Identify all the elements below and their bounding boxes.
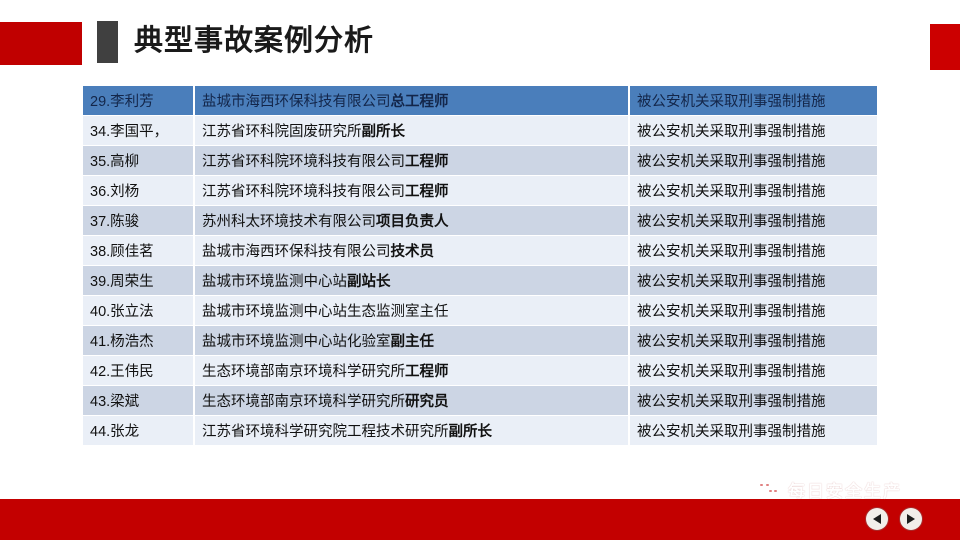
role-text: 副所长 bbox=[362, 124, 406, 140]
org-text: 生态环境部南京环境科学研究所 bbox=[202, 364, 405, 380]
cell-org-role: 江苏省环境科学研究院工程技术研究所副所长 bbox=[194, 416, 629, 446]
cell-action: 被公安机关采取刑事强制措施 bbox=[629, 236, 877, 266]
cell-action: 被公安机关采取刑事强制措施 bbox=[629, 356, 877, 386]
decor-left-red-block bbox=[0, 22, 82, 65]
arrow-right-icon bbox=[907, 514, 915, 524]
role-text: 副主任 bbox=[391, 334, 435, 350]
role-text: 总工程师 bbox=[391, 94, 449, 110]
table-row[interactable]: 44.张龙江苏省环境科学研究院工程技术研究所副所长被公安机关采取刑事强制措施 bbox=[83, 416, 877, 446]
org-text: 盐城市海西环保科技有限公司 bbox=[202, 94, 391, 110]
org-text: 盐城市环境监测中心站化验室 bbox=[202, 334, 391, 350]
cell-person-name: 38.顾佳茗 bbox=[83, 236, 194, 266]
org-text: 盐城市海西环保科技有限公司 bbox=[202, 244, 391, 260]
cell-person-name: 35.高柳 bbox=[83, 146, 194, 176]
cell-org-role: 盐城市环境监测中心站化验室副主任 bbox=[194, 326, 629, 356]
org-text: 江苏省环科院环境科技有限公司 bbox=[202, 154, 405, 170]
decor-topright-red-block bbox=[930, 24, 960, 70]
role-text: 副站长 bbox=[347, 274, 391, 290]
role-text: 项目负责人 bbox=[376, 214, 449, 230]
org-text: 江苏省环境科学研究院工程技术研究所 bbox=[202, 424, 449, 440]
cell-person-name: 41.杨浩杰 bbox=[83, 326, 194, 356]
decor-bottom-red-bar bbox=[0, 499, 960, 540]
arrow-left-icon bbox=[873, 514, 881, 524]
cell-person-name: 42.王伟民 bbox=[83, 356, 194, 386]
role-text: 工程师 bbox=[405, 154, 449, 170]
table-row[interactable]: 34.李国平，江苏省环科院固废研究所副所长被公安机关采取刑事强制措施 bbox=[83, 116, 877, 146]
role-text: 工程师 bbox=[405, 364, 449, 380]
cell-person-name: 39.周荣生 bbox=[83, 266, 194, 296]
cell-action: 被公安机关采取刑事强制措施 bbox=[629, 296, 877, 326]
cell-org-role: 江苏省环科院环境科技有限公司工程师 bbox=[194, 146, 629, 176]
table-row[interactable]: 29.李利芳盐城市海西环保科技有限公司总工程师被公安机关采取刑事强制措施 bbox=[83, 86, 877, 116]
org-text: 江苏省环科院固废研究所 bbox=[202, 124, 362, 140]
cell-person-name: 43.梁斌 bbox=[83, 386, 194, 416]
cell-action: 被公安机关采取刑事强制措施 bbox=[629, 266, 877, 296]
table-row[interactable]: 36.刘杨江苏省环科院环境科技有限公司工程师被公安机关采取刑事强制措施 bbox=[83, 176, 877, 206]
table-row[interactable]: 40.张立法盐城市环境监测中心站生态监测室主任被公安机关采取刑事强制措施 bbox=[83, 296, 877, 326]
cell-action: 被公安机关采取刑事强制措施 bbox=[629, 206, 877, 236]
cell-action: 被公安机关采取刑事强制措施 bbox=[629, 386, 877, 416]
slide-nav[interactable] bbox=[866, 508, 922, 530]
org-text: 苏州科太环境技术有限公司 bbox=[202, 214, 376, 230]
case-table-body: 29.李利芳盐城市海西环保科技有限公司总工程师被公安机关采取刑事强制措施34.李… bbox=[83, 86, 877, 446]
table-row[interactable]: 37.陈骏苏州科太环境技术有限公司项目负责人被公安机关采取刑事强制措施 bbox=[83, 206, 877, 236]
role-text: 副所长 bbox=[449, 424, 493, 440]
org-text: 盐城市环境监测中心站 bbox=[202, 274, 347, 290]
cell-action: 被公安机关采取刑事强制措施 bbox=[629, 116, 877, 146]
page-title: 典型事故案例分析 bbox=[134, 20, 374, 62]
table-row[interactable]: 43.梁斌生态环境部南京环境科学研究所研究员被公安机关采取刑事强制措施 bbox=[83, 386, 877, 416]
cell-person-name: 40.张立法 bbox=[83, 296, 194, 326]
next-slide-button[interactable] bbox=[900, 508, 922, 530]
cell-org-role: 盐城市海西环保科技有限公司总工程师 bbox=[194, 86, 629, 116]
cell-org-role: 生态环境部南京环境科学研究所研究员 bbox=[194, 386, 629, 416]
cell-org-role: 生态环境部南京环境科学研究所工程师 bbox=[194, 356, 629, 386]
table-row[interactable]: 35.高柳江苏省环科院环境科技有限公司工程师被公安机关采取刑事强制措施 bbox=[83, 146, 877, 176]
cell-action: 被公安机关采取刑事强制措施 bbox=[629, 416, 877, 446]
table-row[interactable]: 42.王伟民生态环境部南京环境科学研究所工程师被公安机关采取刑事强制措施 bbox=[83, 356, 877, 386]
cell-action: 被公安机关采取刑事强制措施 bbox=[629, 326, 877, 356]
role-text: 研究员 bbox=[405, 394, 449, 410]
table-row[interactable]: 39.周荣生盐城市环境监测中心站副站长被公安机关采取刑事强制措施 bbox=[83, 266, 877, 296]
case-table-container: 29.李利芳盐城市海西环保科技有限公司总工程师被公安机关采取刑事强制措施34.李… bbox=[83, 86, 877, 446]
prev-slide-button[interactable] bbox=[866, 508, 888, 530]
role-text: 工程师 bbox=[405, 184, 449, 200]
cell-person-name: 36.刘杨 bbox=[83, 176, 194, 206]
role-text: 技术员 bbox=[391, 244, 435, 260]
cell-person-name: 37.陈骏 bbox=[83, 206, 194, 236]
org-text: 盐城市环境监测中心站生态监测室主任 bbox=[202, 304, 449, 320]
cell-action: 被公安机关采取刑事强制措施 bbox=[629, 146, 877, 176]
cell-org-role: 江苏省环科院固废研究所副所长 bbox=[194, 116, 629, 146]
cell-org-role: 盐城市环境监测中心站副站长 bbox=[194, 266, 629, 296]
cell-person-name: 29.李利芳 bbox=[83, 86, 194, 116]
cell-org-role: 盐城市环境监测中心站生态监测室主任 bbox=[194, 296, 629, 326]
slide-canvas: 典型事故案例分析 29.李利芳盐城市海西环保科技有限公司总工程师被公安机关采取刑… bbox=[0, 0, 960, 540]
table-row[interactable]: 38.顾佳茗盐城市海西环保科技有限公司技术员被公安机关采取刑事强制措施 bbox=[83, 236, 877, 266]
table-row[interactable]: 41.杨浩杰盐城市环境监测中心站化验室副主任被公安机关采取刑事强制措施 bbox=[83, 326, 877, 356]
case-table: 29.李利芳盐城市海西环保科技有限公司总工程师被公安机关采取刑事强制措施34.李… bbox=[83, 86, 877, 446]
cell-person-name: 44.张龙 bbox=[83, 416, 194, 446]
cell-org-role: 苏州科太环境技术有限公司项目负责人 bbox=[194, 206, 629, 236]
cell-org-role: 江苏省环科院环境科技有限公司工程师 bbox=[194, 176, 629, 206]
org-text: 江苏省环科院环境科技有限公司 bbox=[202, 184, 405, 200]
cell-action: 被公安机关采取刑事强制措施 bbox=[629, 176, 877, 206]
cell-person-name: 34.李国平， bbox=[83, 116, 194, 146]
wechat-icon bbox=[756, 479, 782, 501]
cell-action: 被公安机关采取刑事强制措施 bbox=[629, 86, 877, 116]
org-text: 生态环境部南京环境科学研究所 bbox=[202, 394, 405, 410]
decor-title-gray-block bbox=[97, 21, 118, 63]
cell-org-role: 盐城市海西环保科技有限公司技术员 bbox=[194, 236, 629, 266]
